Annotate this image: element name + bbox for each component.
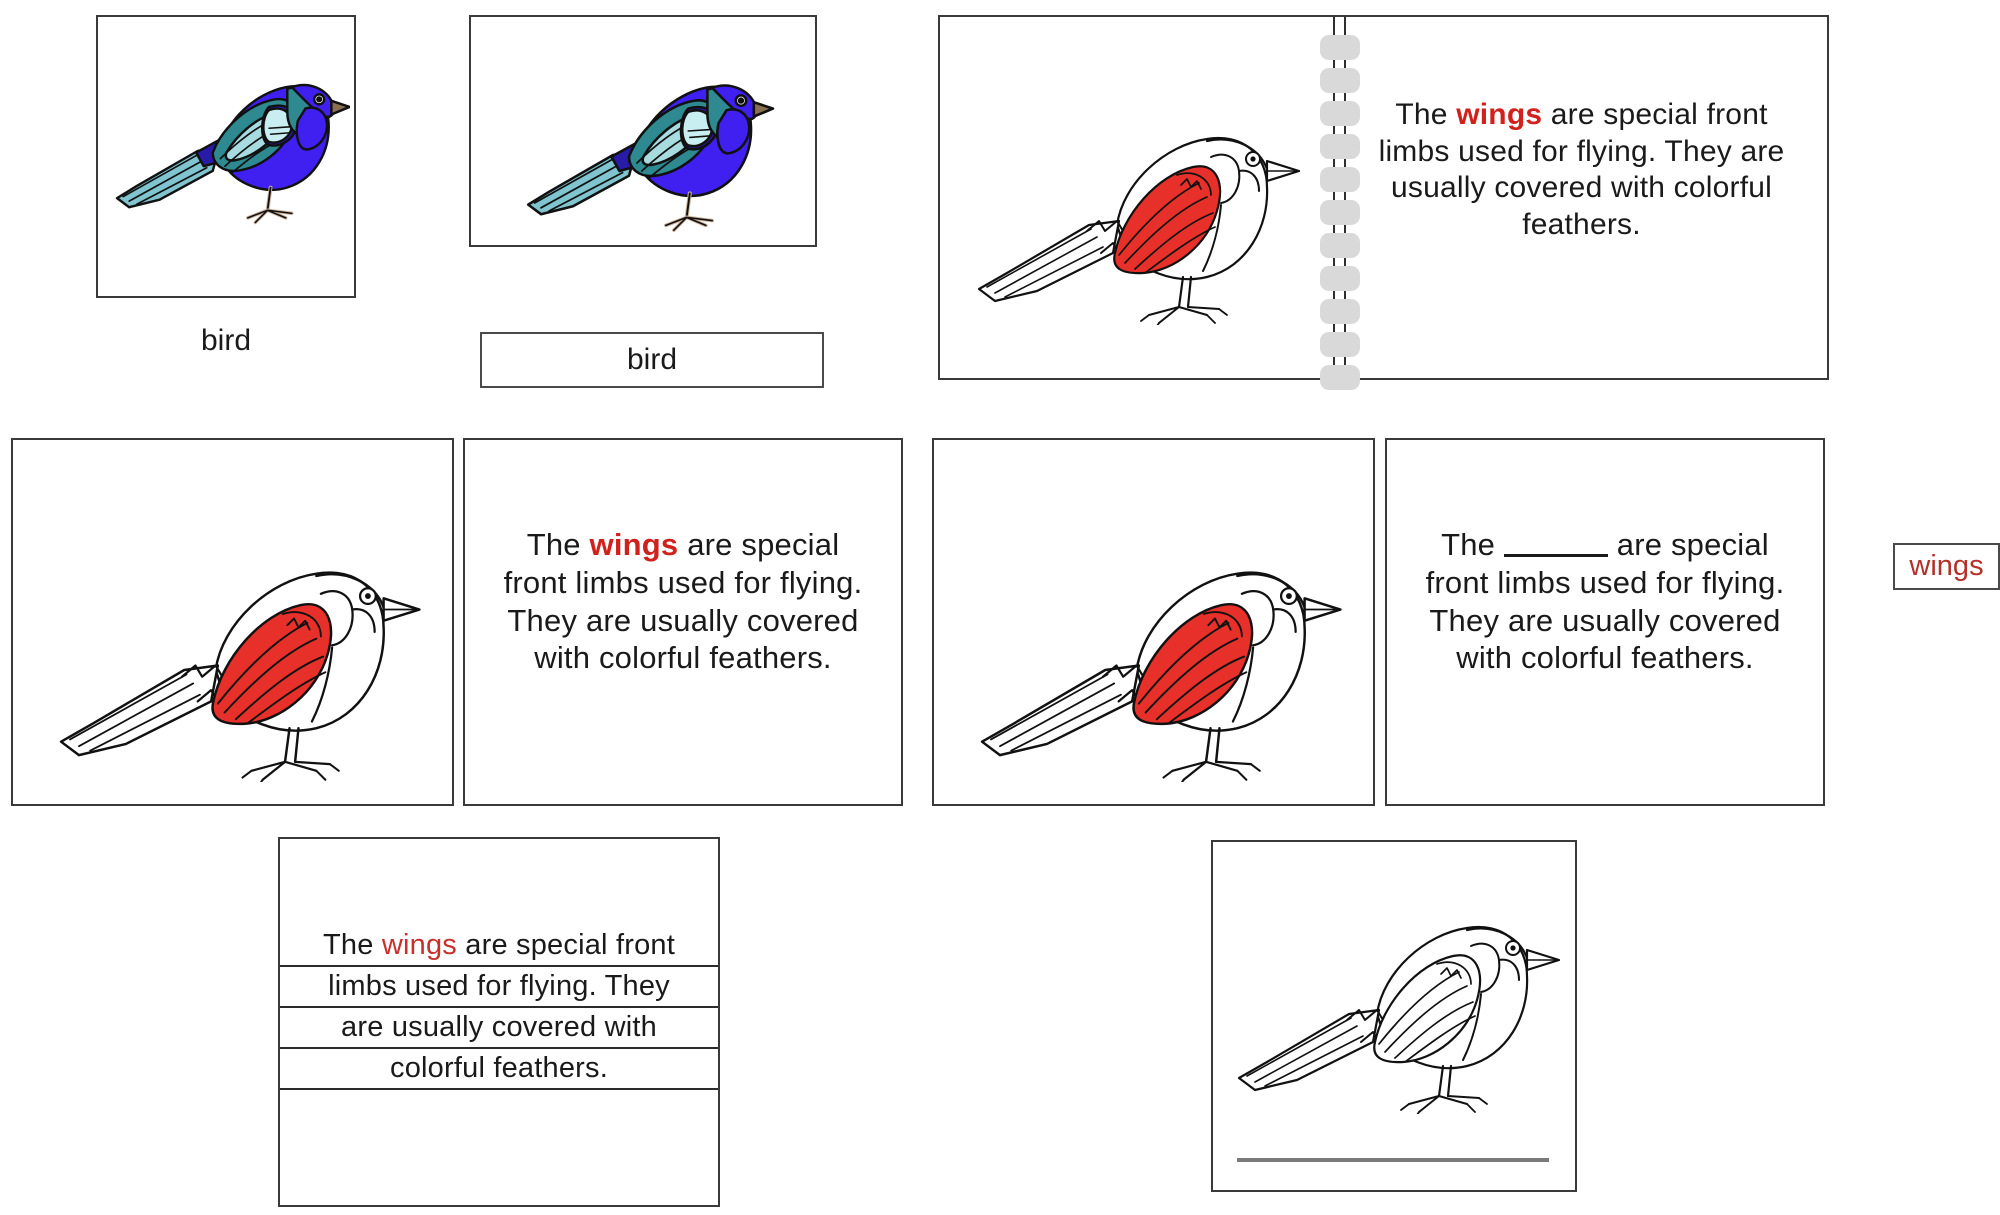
colored-bird-illustration-2	[483, 35, 807, 235]
spiral-booklet-spread[interactable]: The wings are special front limbs used f…	[938, 15, 1829, 380]
line-art-bird-red-wing-booklet	[962, 75, 1312, 325]
control-sentence: The wings are special front limbs used f…	[465, 526, 901, 677]
blank-sentence: The are special front limbs used for fly…	[1387, 526, 1823, 677]
sentence-highlight-word: wings	[1456, 98, 1542, 131]
ruled-booklet-text-page[interactable]: The wings are special front limbs used f…	[278, 837, 720, 1207]
spiral-ring	[1320, 35, 1360, 60]
ruled-sentence-before: The	[323, 929, 382, 961]
spiral-ring	[1320, 365, 1360, 390]
control-picture-card-red-wing[interactable]	[11, 438, 454, 806]
picture-with-label-card[interactable]: bird	[96, 15, 356, 298]
spiral-ring	[1320, 266, 1360, 291]
blank-booklet-picture-page[interactable]	[1211, 840, 1577, 1192]
control-sentence-highlight-word: wings	[590, 527, 679, 562]
spiral-ring	[1320, 134, 1360, 159]
colored-bird-illustration	[106, 37, 350, 227]
wings-word-chip-text: wings	[1909, 550, 1983, 583]
blank-sentence-before: The	[1441, 527, 1504, 562]
line-art-bird-plain	[1225, 864, 1569, 1114]
booklet-sentence: The wings are special front limbs used f…	[1360, 97, 1803, 243]
spiral-ring	[1320, 200, 1360, 225]
picture-only-card[interactable]	[469, 15, 817, 247]
line-art-bird-red-wing-blank	[954, 502, 1364, 782]
spiral-ring	[1320, 332, 1360, 357]
fill-in-the-blank-definition-card[interactable]: The are special front limbs used for fly…	[1385, 438, 1825, 806]
spiral-ring	[1320, 299, 1360, 324]
spiral-ring	[1320, 167, 1360, 192]
wings-word-chip[interactable]: wings	[1893, 543, 2000, 590]
answer-write-line[interactable]	[1237, 1158, 1549, 1162]
spiral-ring	[1320, 68, 1360, 93]
spiral-binding	[1318, 17, 1362, 378]
picture-card-label: bird	[98, 317, 354, 365]
line-art-bird-red-wing-control	[33, 502, 443, 782]
ruled-sentence-highlight-word: wings	[382, 929, 457, 961]
separate-label-text: bird	[627, 343, 677, 377]
spiral-ring	[1320, 101, 1360, 126]
control-definition-card[interactable]: The wings are special front limbs used f…	[463, 438, 903, 806]
sentence-before: The	[1395, 98, 1456, 131]
ruled-page-sentence: The wings are special front limbs used f…	[280, 925, 718, 1089]
picture-card-label-text: bird	[201, 324, 251, 358]
answer-blank-line[interactable]	[1504, 554, 1608, 557]
control-sentence-before: The	[527, 527, 590, 562]
blank-picture-card-red-wing[interactable]	[932, 438, 1375, 806]
spiral-ring	[1320, 233, 1360, 258]
separate-label-card[interactable]: bird	[480, 332, 824, 388]
